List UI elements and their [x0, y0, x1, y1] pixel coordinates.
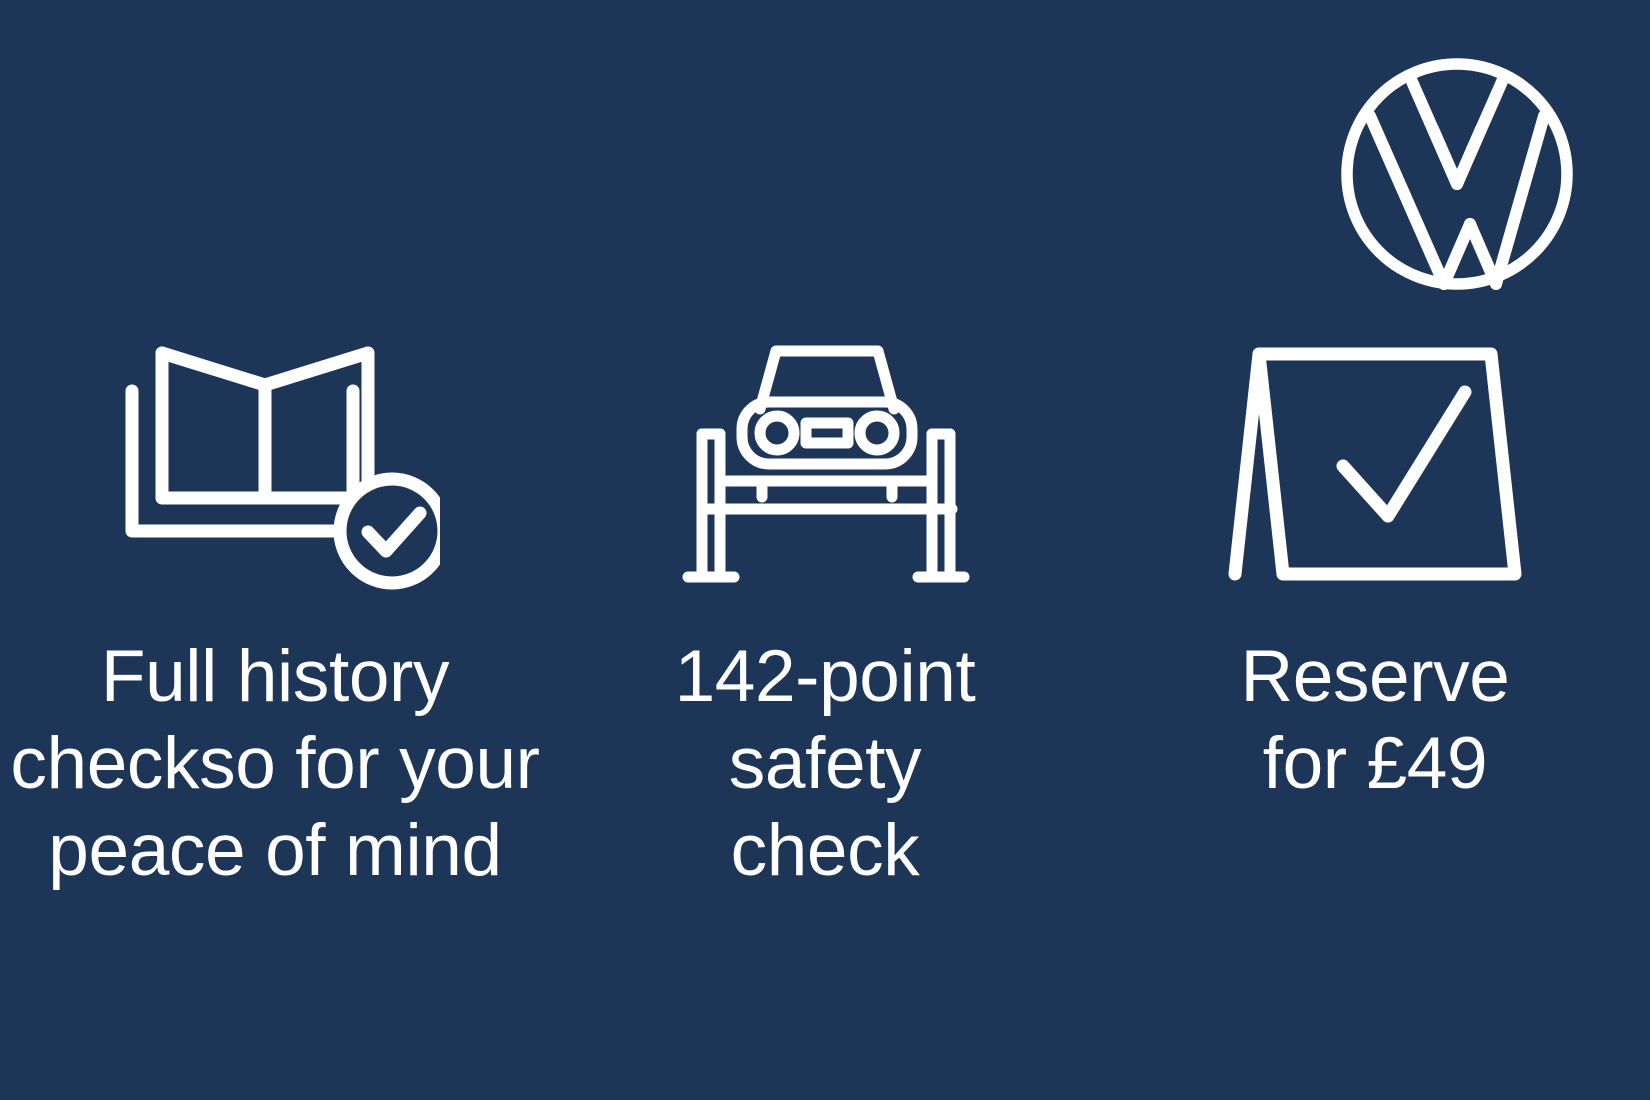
promo-banner: Full history checkso for your peace of m… [0, 0, 1650, 1100]
feature-label: Reserve for £49 [1175, 634, 1575, 808]
feature-item-safety-check: 142-point safety check [550, 330, 1100, 895]
tent-card-with-check-icon [1225, 330, 1525, 592]
feature-label: Full history checkso for your peace of m… [10, 634, 540, 895]
feature-item-full-history-checks: Full history checkso for your peace of m… [0, 330, 550, 895]
car-on-lift-icon [680, 330, 970, 592]
feature-item-reserve: Reserve for £49 [1100, 330, 1650, 808]
feature-label: 142-point safety check [625, 634, 1025, 895]
open-book-with-check-icon [110, 330, 440, 592]
volkswagen-logo-icon [1341, 58, 1573, 290]
feature-columns: Full history checkso for your peace of m… [0, 330, 1650, 950]
